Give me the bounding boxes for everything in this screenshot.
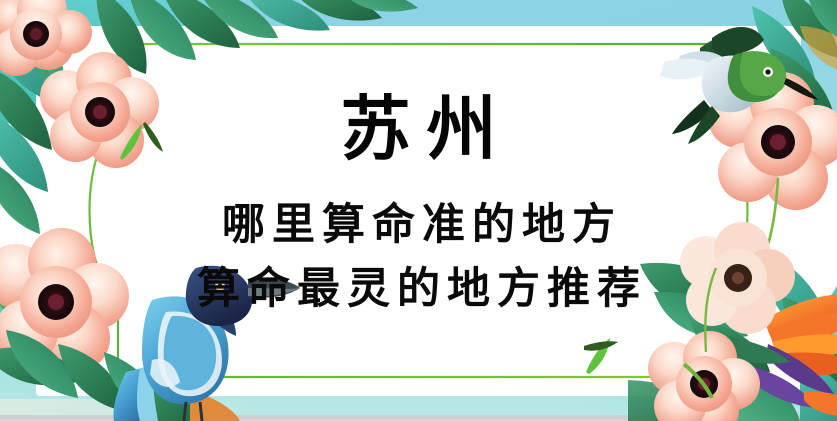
page-title: 苏州 [0, 86, 837, 172]
poster-canvas: 苏州 哪里算命准的地方 算命最灵的地方推荐 [0, 0, 837, 421]
subtitle-line-1: 哪里算命准的地方 [0, 198, 837, 252]
bottom-gray-strip [0, 415, 837, 421]
subtitle-line-2: 算命最灵的地方推荐 [0, 262, 837, 316]
bottom-highlight-strip [0, 399, 260, 415]
